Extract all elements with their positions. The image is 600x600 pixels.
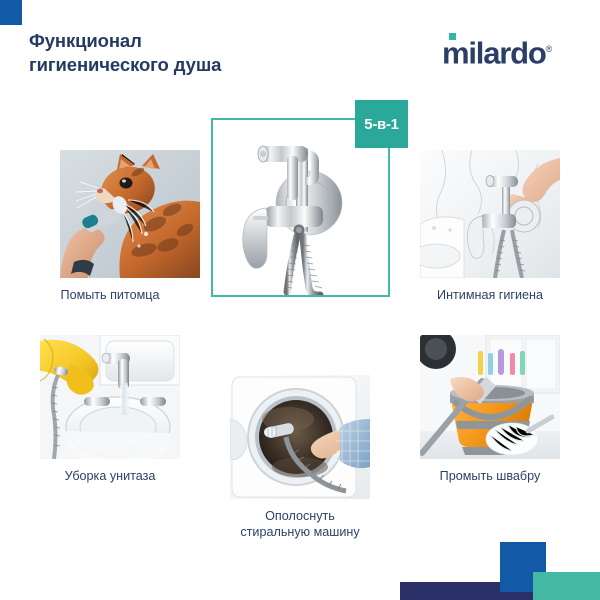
mop-and-orange-bucket-photo	[420, 335, 560, 459]
feature-card-toilet: Уборка унитаза	[20, 335, 200, 484]
feature-caption-washer-line-2: стиральную машину	[210, 524, 390, 540]
page-title-line-1: Функционал	[29, 30, 142, 51]
page-title: Функционал гигиенического душа	[29, 29, 319, 77]
poster-canvas: Функционал гигиенического душа milardo®	[0, 0, 600, 600]
feature-card-intimate: Интимная гигиена	[400, 150, 580, 303]
page-title-line-2: гигиенического душа	[29, 53, 319, 77]
feature-caption-washer: Ополоснуть стиральную машину	[210, 508, 390, 540]
feature-caption-intimate: Интимная гигиена	[400, 287, 580, 303]
feature-caption-pet: Помыть питомца	[20, 287, 200, 303]
feature-caption-mop: Промыть швабру	[400, 468, 580, 484]
feature-caption-washer-line-1: Ополоснуть	[265, 509, 335, 523]
feature-caption-intimate-line-1: Интимная гигиена	[437, 288, 543, 302]
bottom-right-teal-square-decoration	[533, 572, 600, 600]
brand-logo-text: milardo	[442, 35, 546, 70]
feature-caption-toilet-line-1: Уборка унитаза	[65, 469, 156, 483]
gloved-hand-cleaning-toilet-photo	[40, 335, 180, 459]
feature-card-mop: Промыть швабру	[400, 335, 580, 484]
five-in-one-badge-label: 5-в-1	[364, 116, 398, 133]
feature-caption-mop-line-1: Промыть швабру	[440, 469, 541, 483]
registered-trademark-icon: ®	[546, 44, 553, 54]
feature-card-pet: Помыть питомца	[20, 150, 200, 303]
feature-caption-toilet: Уборка унитаза	[20, 468, 200, 484]
bidet-shower-in-bathroom-photo	[420, 150, 560, 278]
cat-being-washed-photo	[60, 150, 200, 278]
feature-card-washer: Ополоснуть стиральную машину	[210, 375, 390, 540]
brand-logo: milardo®	[442, 32, 552, 70]
five-in-one-badge: 5-в-1	[355, 100, 408, 148]
washing-machine-drum-photo	[230, 375, 370, 499]
feature-caption-pet-line-1: Помыть питомца	[61, 288, 160, 302]
logo-i-dot-accent	[449, 33, 456, 40]
top-left-blue-square-decoration	[0, 0, 22, 25]
